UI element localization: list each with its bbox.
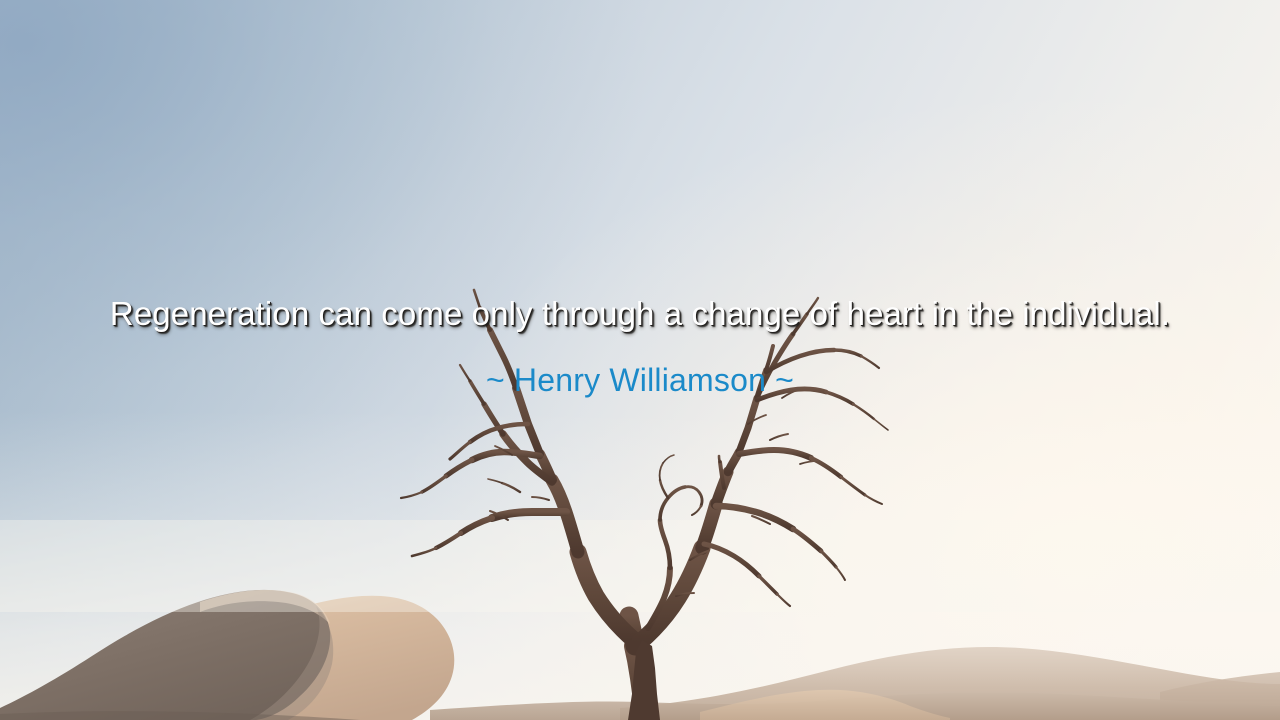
author-attribution: ~ Henry Williamson ~ [60,336,1220,400]
quote-text: Regeneration can come only through a cha… [60,292,1220,336]
quote-image-canvas: Regeneration can come only through a cha… [0,0,1280,720]
quote-text-block: Regeneration can come only through a cha… [60,292,1220,400]
